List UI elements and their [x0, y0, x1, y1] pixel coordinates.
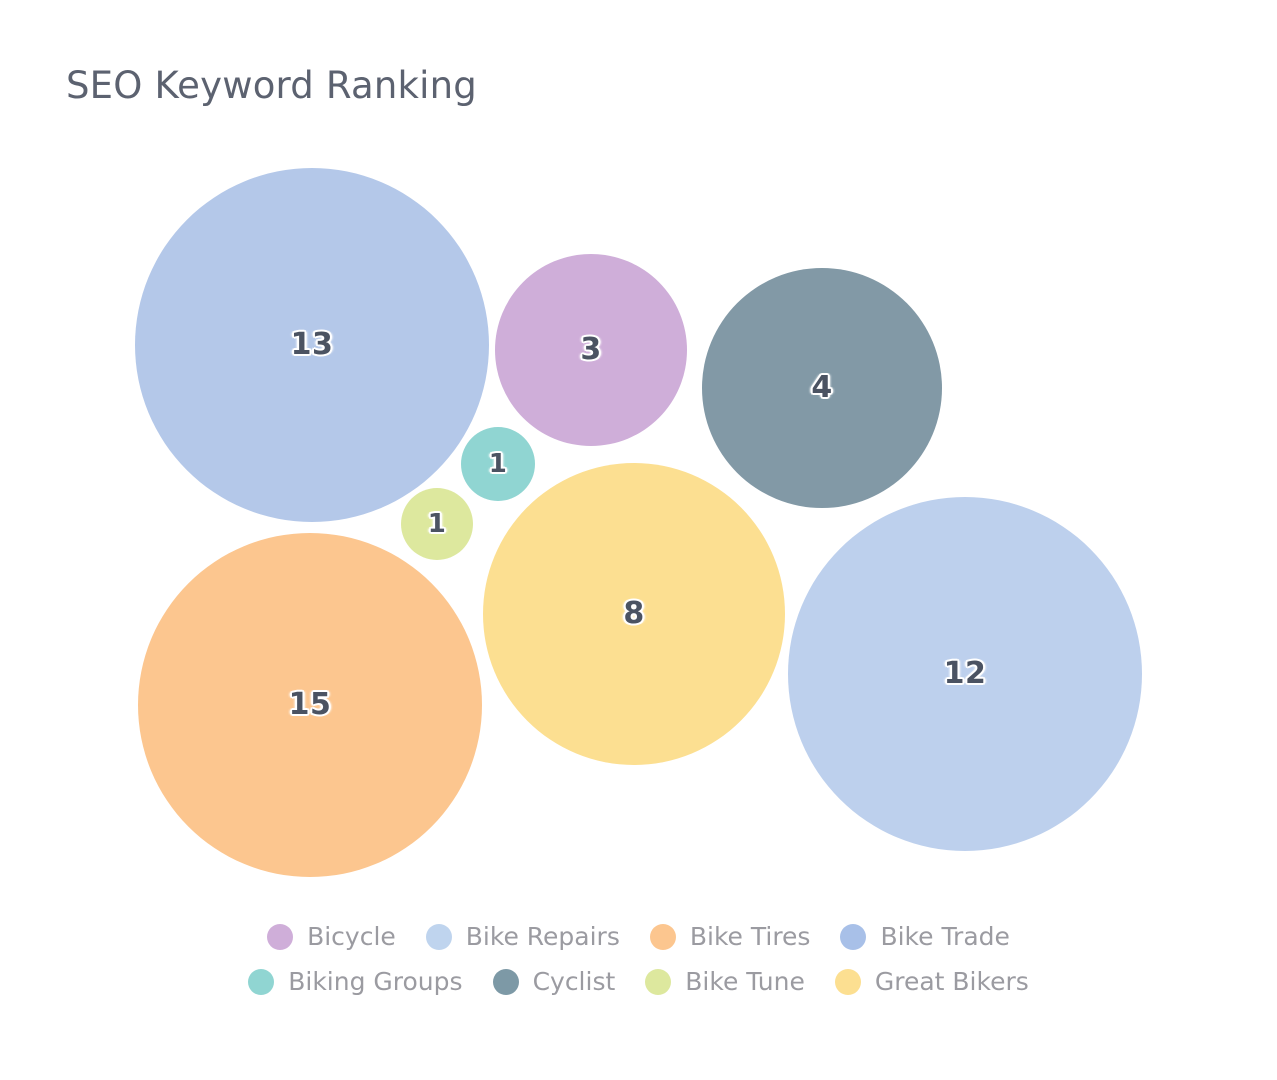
bubble-biking-groups[interactable]: 1: [461, 427, 535, 501]
bubble-value-label: 4: [811, 373, 832, 403]
bubble-value-label: 3: [580, 335, 601, 365]
legend-swatch-icon: [267, 924, 293, 950]
legend-item-bike-repairs[interactable]: Bike Repairs: [426, 922, 620, 951]
legend-swatch-icon: [493, 969, 519, 995]
legend-swatch-icon: [248, 969, 274, 995]
legend-item-label: Bike Repairs: [466, 922, 620, 951]
legend-item-label: Bike Tires: [690, 922, 811, 951]
legend-swatch-icon: [840, 924, 866, 950]
bubble-value-label: 8: [623, 599, 644, 629]
bubble-great-bikers[interactable]: 8: [483, 463, 785, 765]
bubble-chart: SEO Keyword Ranking 13341181512 BicycleB…: [0, 0, 1277, 1080]
legend-item-cyclist[interactable]: Cyclist: [493, 967, 616, 996]
legend-item-bicycle[interactable]: Bicycle: [267, 922, 396, 951]
legend-swatch-icon: [426, 924, 452, 950]
legend-item-great-bikers[interactable]: Great Bikers: [835, 967, 1029, 996]
bubble-value-label: 1: [428, 511, 447, 537]
legend-swatch-icon: [645, 969, 671, 995]
legend-item-label: Great Bikers: [875, 967, 1029, 996]
chart-legend: BicycleBike RepairsBike TiresBike TradeB…: [0, 922, 1277, 996]
legend-item-label: Bike Tune: [685, 967, 805, 996]
legend-item-bike-tune[interactable]: Bike Tune: [645, 967, 805, 996]
legend-swatch-icon: [835, 969, 861, 995]
bubble-value-label: 1: [489, 451, 508, 477]
legend-row: Biking GroupsCyclistBike TuneGreat Biker…: [248, 967, 1029, 996]
bubble-bicycle[interactable]: 3: [495, 254, 687, 446]
bubble-value-label: 15: [289, 690, 332, 720]
legend-item-label: Bike Trade: [880, 922, 1009, 951]
legend-item-biking-groups[interactable]: Biking Groups: [248, 967, 462, 996]
legend-item-label: Cyclist: [533, 967, 616, 996]
bubble-plot-area: 13341181512: [0, 0, 1277, 920]
legend-item-bike-tires[interactable]: Bike Tires: [650, 922, 811, 951]
bubble-cyclist[interactable]: 4: [702, 268, 942, 508]
bubble-bike-tune[interactable]: 1: [401, 488, 473, 560]
legend-item-label: Biking Groups: [288, 967, 462, 996]
bubble-bike-trade[interactable]: 12: [788, 497, 1142, 851]
legend-swatch-icon: [650, 924, 676, 950]
bubble-value-label: 12: [944, 659, 987, 689]
bubble-bike-repairs[interactable]: 13: [135, 168, 489, 522]
bubble-value-label: 13: [291, 330, 334, 360]
legend-item-label: Bicycle: [307, 922, 396, 951]
bubble-bike-tires[interactable]: 15: [138, 533, 482, 877]
legend-row: BicycleBike RepairsBike TiresBike Trade: [267, 922, 1010, 951]
legend-item-bike-trade[interactable]: Bike Trade: [840, 922, 1009, 951]
